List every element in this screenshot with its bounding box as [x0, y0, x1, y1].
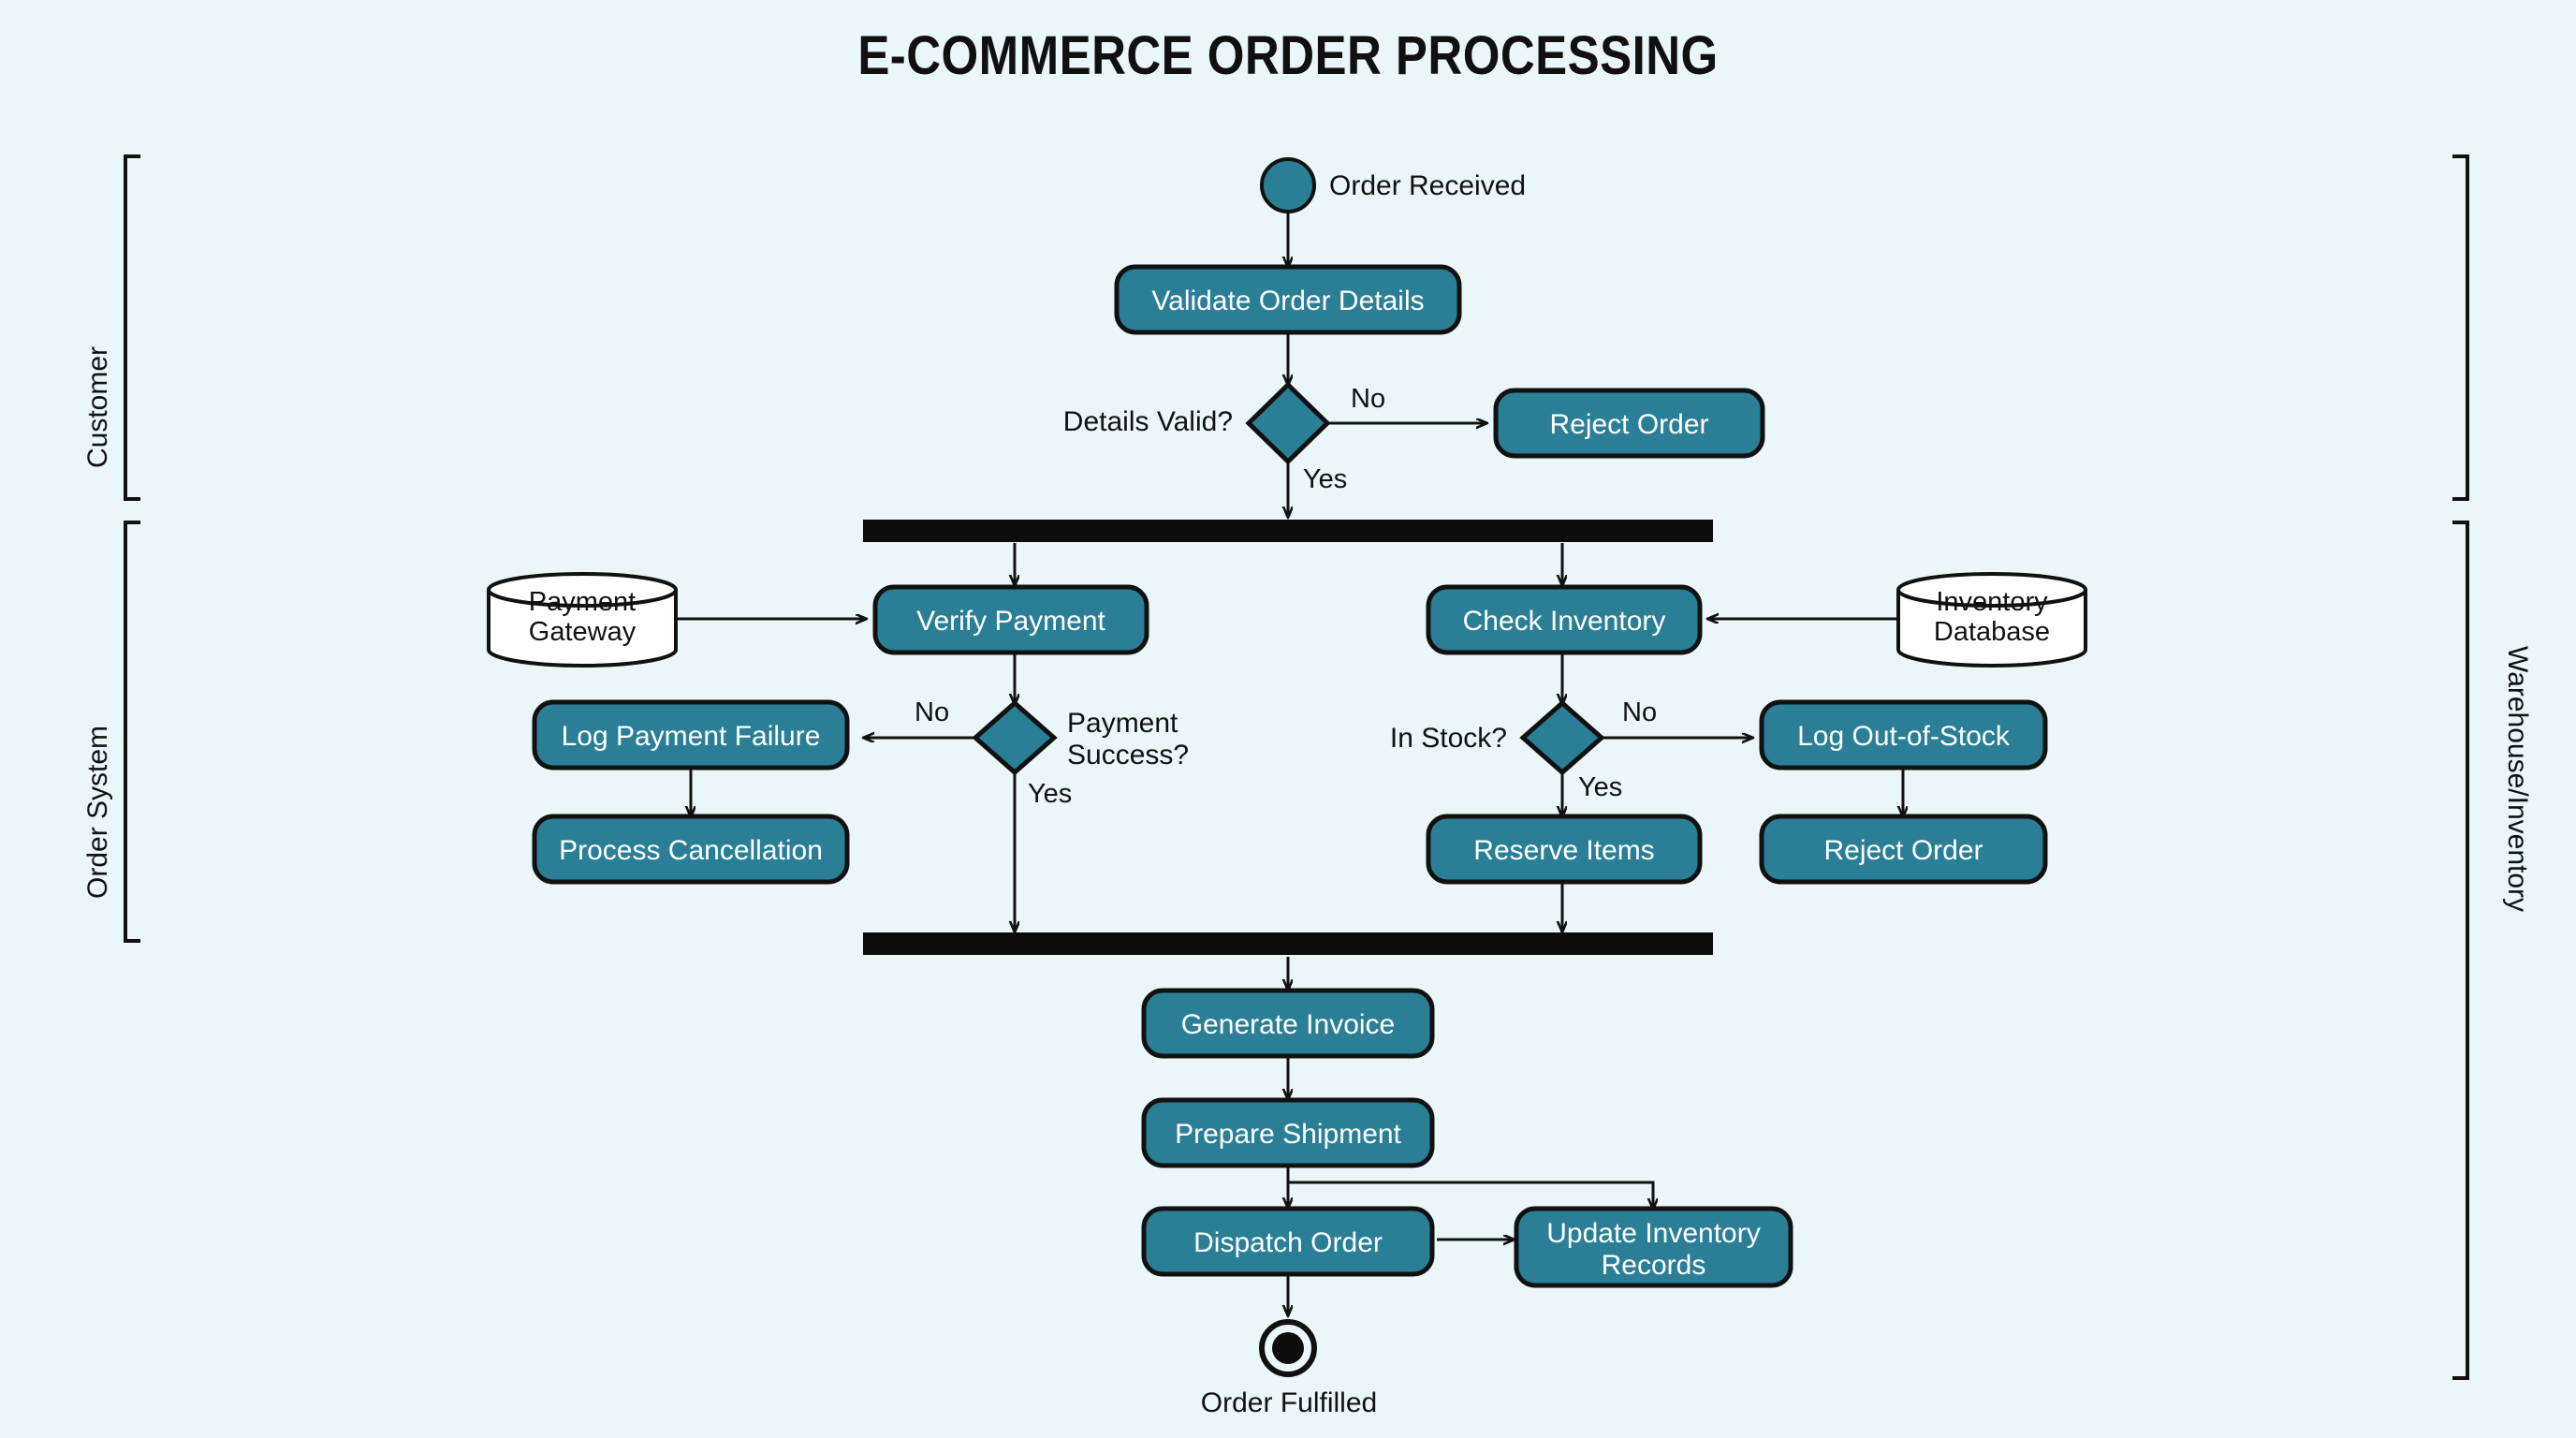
lane-bracket-customer-right	[2452, 156, 2467, 499]
decision-label-details-valid: Details Valid?	[1046, 406, 1233, 438]
activity-check-inventory[interactable]	[1428, 587, 1700, 653]
activity-validate-order-details[interactable]	[1117, 267, 1459, 332]
decision-in-stock[interactable]	[1523, 703, 1602, 772]
activity-update-inventory-records[interactable]	[1516, 1209, 1791, 1285]
diagram-canvas: E-COMMERCE ORDER PROCESSING	[0, 0, 2576, 1438]
activity-generate-invoice[interactable]	[1144, 990, 1432, 1056]
start-node-label: Order Received	[1329, 170, 1526, 202]
edge-label-payment-success-no: No	[915, 697, 949, 728]
lane-bracket-warehouse-right	[2452, 522, 2467, 1378]
edge-label-in-stock-no: No	[1622, 697, 1657, 728]
datastore-label-inventory-database: Inventory Database	[1898, 588, 2086, 648]
edge-label-details-valid-no: No	[1351, 384, 1385, 415]
activity-log-payment-failure[interactable]	[534, 702, 847, 768]
datastore-label-payment-gateway: Payment Gateway	[489, 588, 676, 648]
edge-shipment-update-inventory	[1288, 1182, 1653, 1209]
fork-bar	[863, 520, 1713, 542]
decision-details-valid[interactable]	[1249, 385, 1327, 462]
lane-label-warehouse-inventory: Warehouse/Inventory	[2501, 646, 2533, 912]
decision-payment-success[interactable]	[975, 703, 1054, 772]
edge-label-in-stock-yes: Yes	[1578, 772, 1622, 803]
activity-log-out-of-stock[interactable]	[1762, 702, 2045, 768]
lane-label-order-system: Order System	[82, 726, 114, 899]
edge-label-details-valid-yes: Yes	[1303, 464, 1347, 495]
decision-label-in-stock: In Stock?	[1367, 723, 1507, 755]
lane-bracket-customer-left	[125, 156, 140, 499]
edge-label-payment-success-yes: Yes	[1028, 779, 1072, 810]
decision-label-payment-success: Payment Success?	[1067, 708, 1189, 770]
end-node-label: Order Fulfilled	[1191, 1387, 1387, 1419]
activity-verify-payment[interactable]	[875, 587, 1147, 653]
flowchart-svg	[0, 0, 2576, 1438]
activity-prepare-shipment[interactable]	[1144, 1100, 1432, 1166]
activity-reserve-items[interactable]	[1428, 816, 1700, 882]
activity-reject-order-1[interactable]	[1496, 390, 1763, 456]
end-node-shape	[1262, 1322, 1314, 1374]
lane-bracket-order-system-left	[125, 522, 140, 941]
start-node-shape	[1262, 159, 1314, 212]
activity-process-cancellation[interactable]	[534, 816, 847, 882]
activity-dispatch-order[interactable]	[1144, 1209, 1432, 1274]
lane-label-customer: Customer	[82, 346, 114, 468]
join-bar	[863, 932, 1713, 955]
activity-reject-order-2[interactable]	[1762, 816, 2045, 882]
